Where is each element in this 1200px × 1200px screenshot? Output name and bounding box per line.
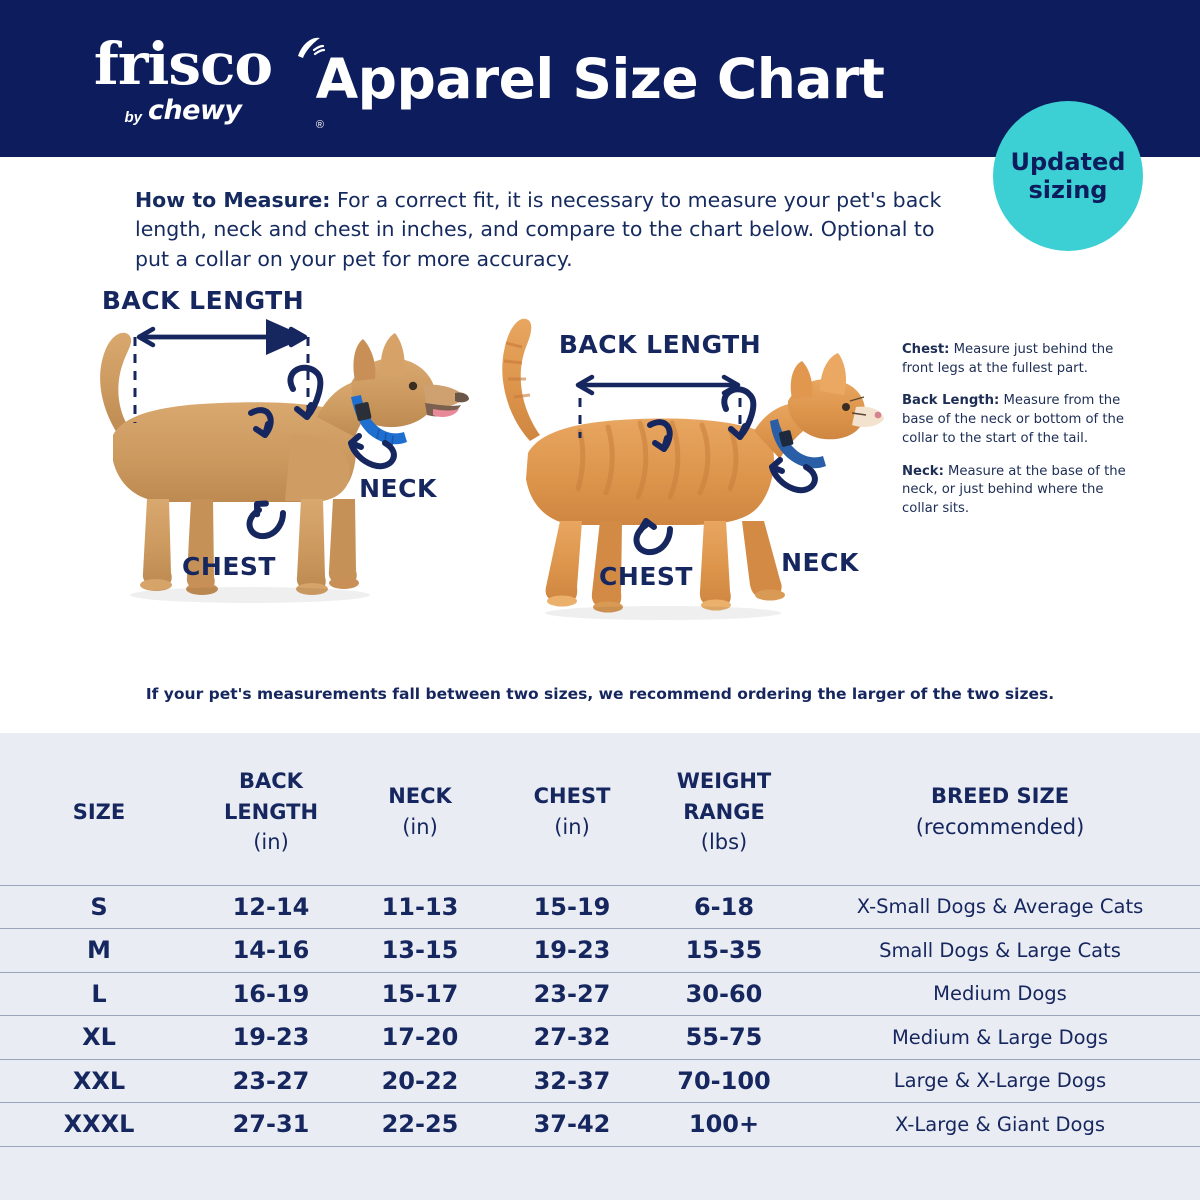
col-header-size: SIZE bbox=[0, 733, 198, 885]
how-to-measure-label: How to Measure: bbox=[135, 188, 330, 212]
definition-back-length: Back Length: Measure from the base of th… bbox=[902, 392, 1134, 448]
cell-chest: 37-42 bbox=[496, 1103, 648, 1147]
cell-neck: 15-17 bbox=[344, 972, 496, 1016]
table-header-row: SIZE BACK LENGTH (in) NECK (in) CHEST (i… bbox=[0, 733, 1200, 885]
cell-size: XXL bbox=[0, 1059, 198, 1103]
cell-rule bbox=[800, 1146, 1200, 1147]
definition-chest: Chest: Measure just behind the front leg… bbox=[902, 341, 1134, 378]
how-to-measure-paragraph: How to Measure: For a correct fit, it is… bbox=[135, 186, 950, 274]
cell-chest: 27-32 bbox=[496, 1016, 648, 1060]
cell-neck: 13-15 bbox=[344, 929, 496, 973]
cell-neck: 11-13 bbox=[344, 885, 496, 929]
cell-rule bbox=[648, 1146, 800, 1147]
col-header-neck-main: NECK bbox=[344, 781, 496, 811]
col-header-neck: NECK (in) bbox=[344, 733, 496, 885]
cell-chest: 19-23 bbox=[496, 929, 648, 973]
cell-size: S bbox=[0, 885, 198, 929]
cell-neck: 20-22 bbox=[344, 1059, 496, 1103]
cell-chest: 23-27 bbox=[496, 972, 648, 1016]
cell-breed: Medium Dogs bbox=[800, 972, 1200, 1016]
col-header-breed-size: BREED SIZE (recommended) bbox=[800, 733, 1200, 885]
col-header-weight-range: WEIGHT RANGE (lbs) bbox=[648, 733, 800, 885]
cell-breed: Small Dogs & Large Cats bbox=[800, 929, 1200, 973]
cell-size: XL bbox=[0, 1016, 198, 1060]
dog-illustration: BACK LENGTH NECK CHEST bbox=[55, 285, 475, 625]
col-header-back-length: BACK LENGTH (in) bbox=[198, 733, 344, 885]
definition-back-length-term: Back Length: bbox=[902, 393, 999, 408]
size-table: SIZE BACK LENGTH (in) NECK (in) CHEST (i… bbox=[0, 733, 1200, 1147]
cell-rule bbox=[344, 1146, 496, 1147]
col-header-size-main: SIZE bbox=[0, 797, 198, 827]
badge-line-2: sizing bbox=[1029, 176, 1108, 204]
table-row: XXXL 27-31 22-25 37-42 100+ X-Large & Gi… bbox=[0, 1103, 1200, 1147]
table-row: M 14-16 13-15 19-23 15-35 Small Dogs & L… bbox=[0, 929, 1200, 973]
cell-chest: 32-37 bbox=[496, 1059, 648, 1103]
cat-neck-label: NECK bbox=[781, 548, 860, 577]
sizing-note: If your pet's measurements fall between … bbox=[0, 685, 1200, 703]
cell-back-length: 12-14 bbox=[198, 885, 344, 929]
cat-chest-label: CHEST bbox=[599, 562, 693, 591]
col-header-neck-unit: (in) bbox=[344, 812, 496, 842]
cell-weight: 6-18 bbox=[648, 885, 800, 929]
table-row: XXL 23-27 20-22 32-37 70-100 Large & X-L… bbox=[0, 1059, 1200, 1103]
cell-size: XXXL bbox=[0, 1103, 198, 1147]
table-row: XL 19-23 17-20 27-32 55-75 Medium & Larg… bbox=[0, 1016, 1200, 1060]
size-table-head: SIZE BACK LENGTH (in) NECK (in) CHEST (i… bbox=[0, 733, 1200, 885]
table-row-bottom-rule bbox=[0, 1146, 1200, 1147]
col-header-breed-size-main: BREED SIZE bbox=[800, 781, 1200, 811]
badge-line-1: Updated bbox=[1011, 148, 1126, 176]
cell-rule bbox=[0, 1146, 198, 1147]
cell-back-length: 27-31 bbox=[198, 1103, 344, 1147]
cat-back-length-label: BACK LENGTH bbox=[559, 330, 761, 359]
updated-sizing-badge: Updated sizing bbox=[993, 101, 1143, 251]
cell-weight: 100+ bbox=[648, 1103, 800, 1147]
col-header-weight-range-main: WEIGHT RANGE bbox=[648, 766, 800, 827]
cell-rule bbox=[496, 1146, 648, 1147]
cell-back-length: 19-23 bbox=[198, 1016, 344, 1060]
dog-chest-label: CHEST bbox=[182, 552, 276, 581]
size-table-zone: SIZE BACK LENGTH (in) NECK (in) CHEST (i… bbox=[0, 733, 1200, 1200]
table-row: L 16-19 15-17 23-27 30-60 Medium Dogs bbox=[0, 972, 1200, 1016]
table-row: S 12-14 11-13 15-19 6-18 X-Small Dogs & … bbox=[0, 885, 1200, 929]
cell-neck: 22-25 bbox=[344, 1103, 496, 1147]
definition-chest-term: Chest: bbox=[902, 342, 949, 357]
cell-size: L bbox=[0, 972, 198, 1016]
cell-back-length: 23-27 bbox=[198, 1059, 344, 1103]
cell-weight: 30-60 bbox=[648, 972, 800, 1016]
col-header-breed-size-unit: (recommended) bbox=[800, 812, 1200, 842]
cell-breed: Large & X-Large Dogs bbox=[800, 1059, 1200, 1103]
col-header-weight-range-unit: (lbs) bbox=[648, 827, 800, 857]
size-table-body: S 12-14 11-13 15-19 6-18 X-Small Dogs & … bbox=[0, 885, 1200, 1147]
col-header-chest-unit: (in) bbox=[496, 812, 648, 842]
cell-size: M bbox=[0, 929, 198, 973]
dog-back-length-label: BACK LENGTH bbox=[102, 286, 304, 315]
definition-neck-term: Neck: bbox=[902, 464, 944, 479]
cell-breed: X-Large & Giant Dogs bbox=[800, 1103, 1200, 1147]
definition-neck: Neck: Measure at the base of the neck, o… bbox=[902, 463, 1134, 519]
measurement-definitions: Chest: Measure just behind the front leg… bbox=[902, 341, 1134, 533]
dog-neck-label: NECK bbox=[359, 474, 438, 503]
cell-back-length: 14-16 bbox=[198, 929, 344, 973]
cell-back-length: 16-19 bbox=[198, 972, 344, 1016]
cell-weight: 55-75 bbox=[648, 1016, 800, 1060]
col-header-chest: CHEST (in) bbox=[496, 733, 648, 885]
size-chart-page: frisco ® by chewy Apparel Size Chart Upd… bbox=[0, 0, 1200, 1200]
cell-breed: X-Small Dogs & Average Cats bbox=[800, 885, 1200, 929]
col-header-back-length-main: BACK LENGTH bbox=[198, 766, 344, 827]
cell-weight: 70-100 bbox=[648, 1059, 800, 1103]
cell-rule bbox=[198, 1146, 344, 1147]
col-header-chest-main: CHEST bbox=[496, 781, 648, 811]
cell-neck: 17-20 bbox=[344, 1016, 496, 1060]
cell-chest: 15-19 bbox=[496, 885, 648, 929]
cell-weight: 15-35 bbox=[648, 929, 800, 973]
cat-illustration: BACK LENGTH NECK CHEST bbox=[468, 303, 888, 623]
col-header-back-length-unit: (in) bbox=[198, 827, 344, 857]
cell-breed: Medium & Large Dogs bbox=[800, 1016, 1200, 1060]
